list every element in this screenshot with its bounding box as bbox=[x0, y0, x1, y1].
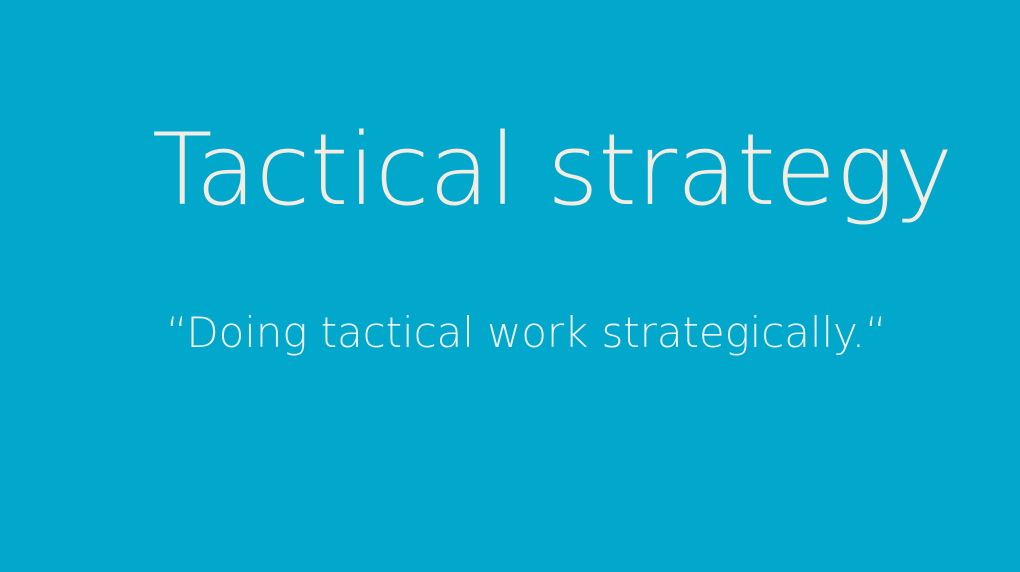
slide-text-block: Tactical strategy “Doing tactical work s… bbox=[0, 0, 1020, 572]
slide-subtitle: “Doing tactical work strategically.“ bbox=[166, 310, 986, 356]
slide-title: Tactical strategy bbox=[152, 118, 972, 225]
presentation-slide: Tactical strategy “Doing tactical work s… bbox=[0, 0, 1020, 572]
